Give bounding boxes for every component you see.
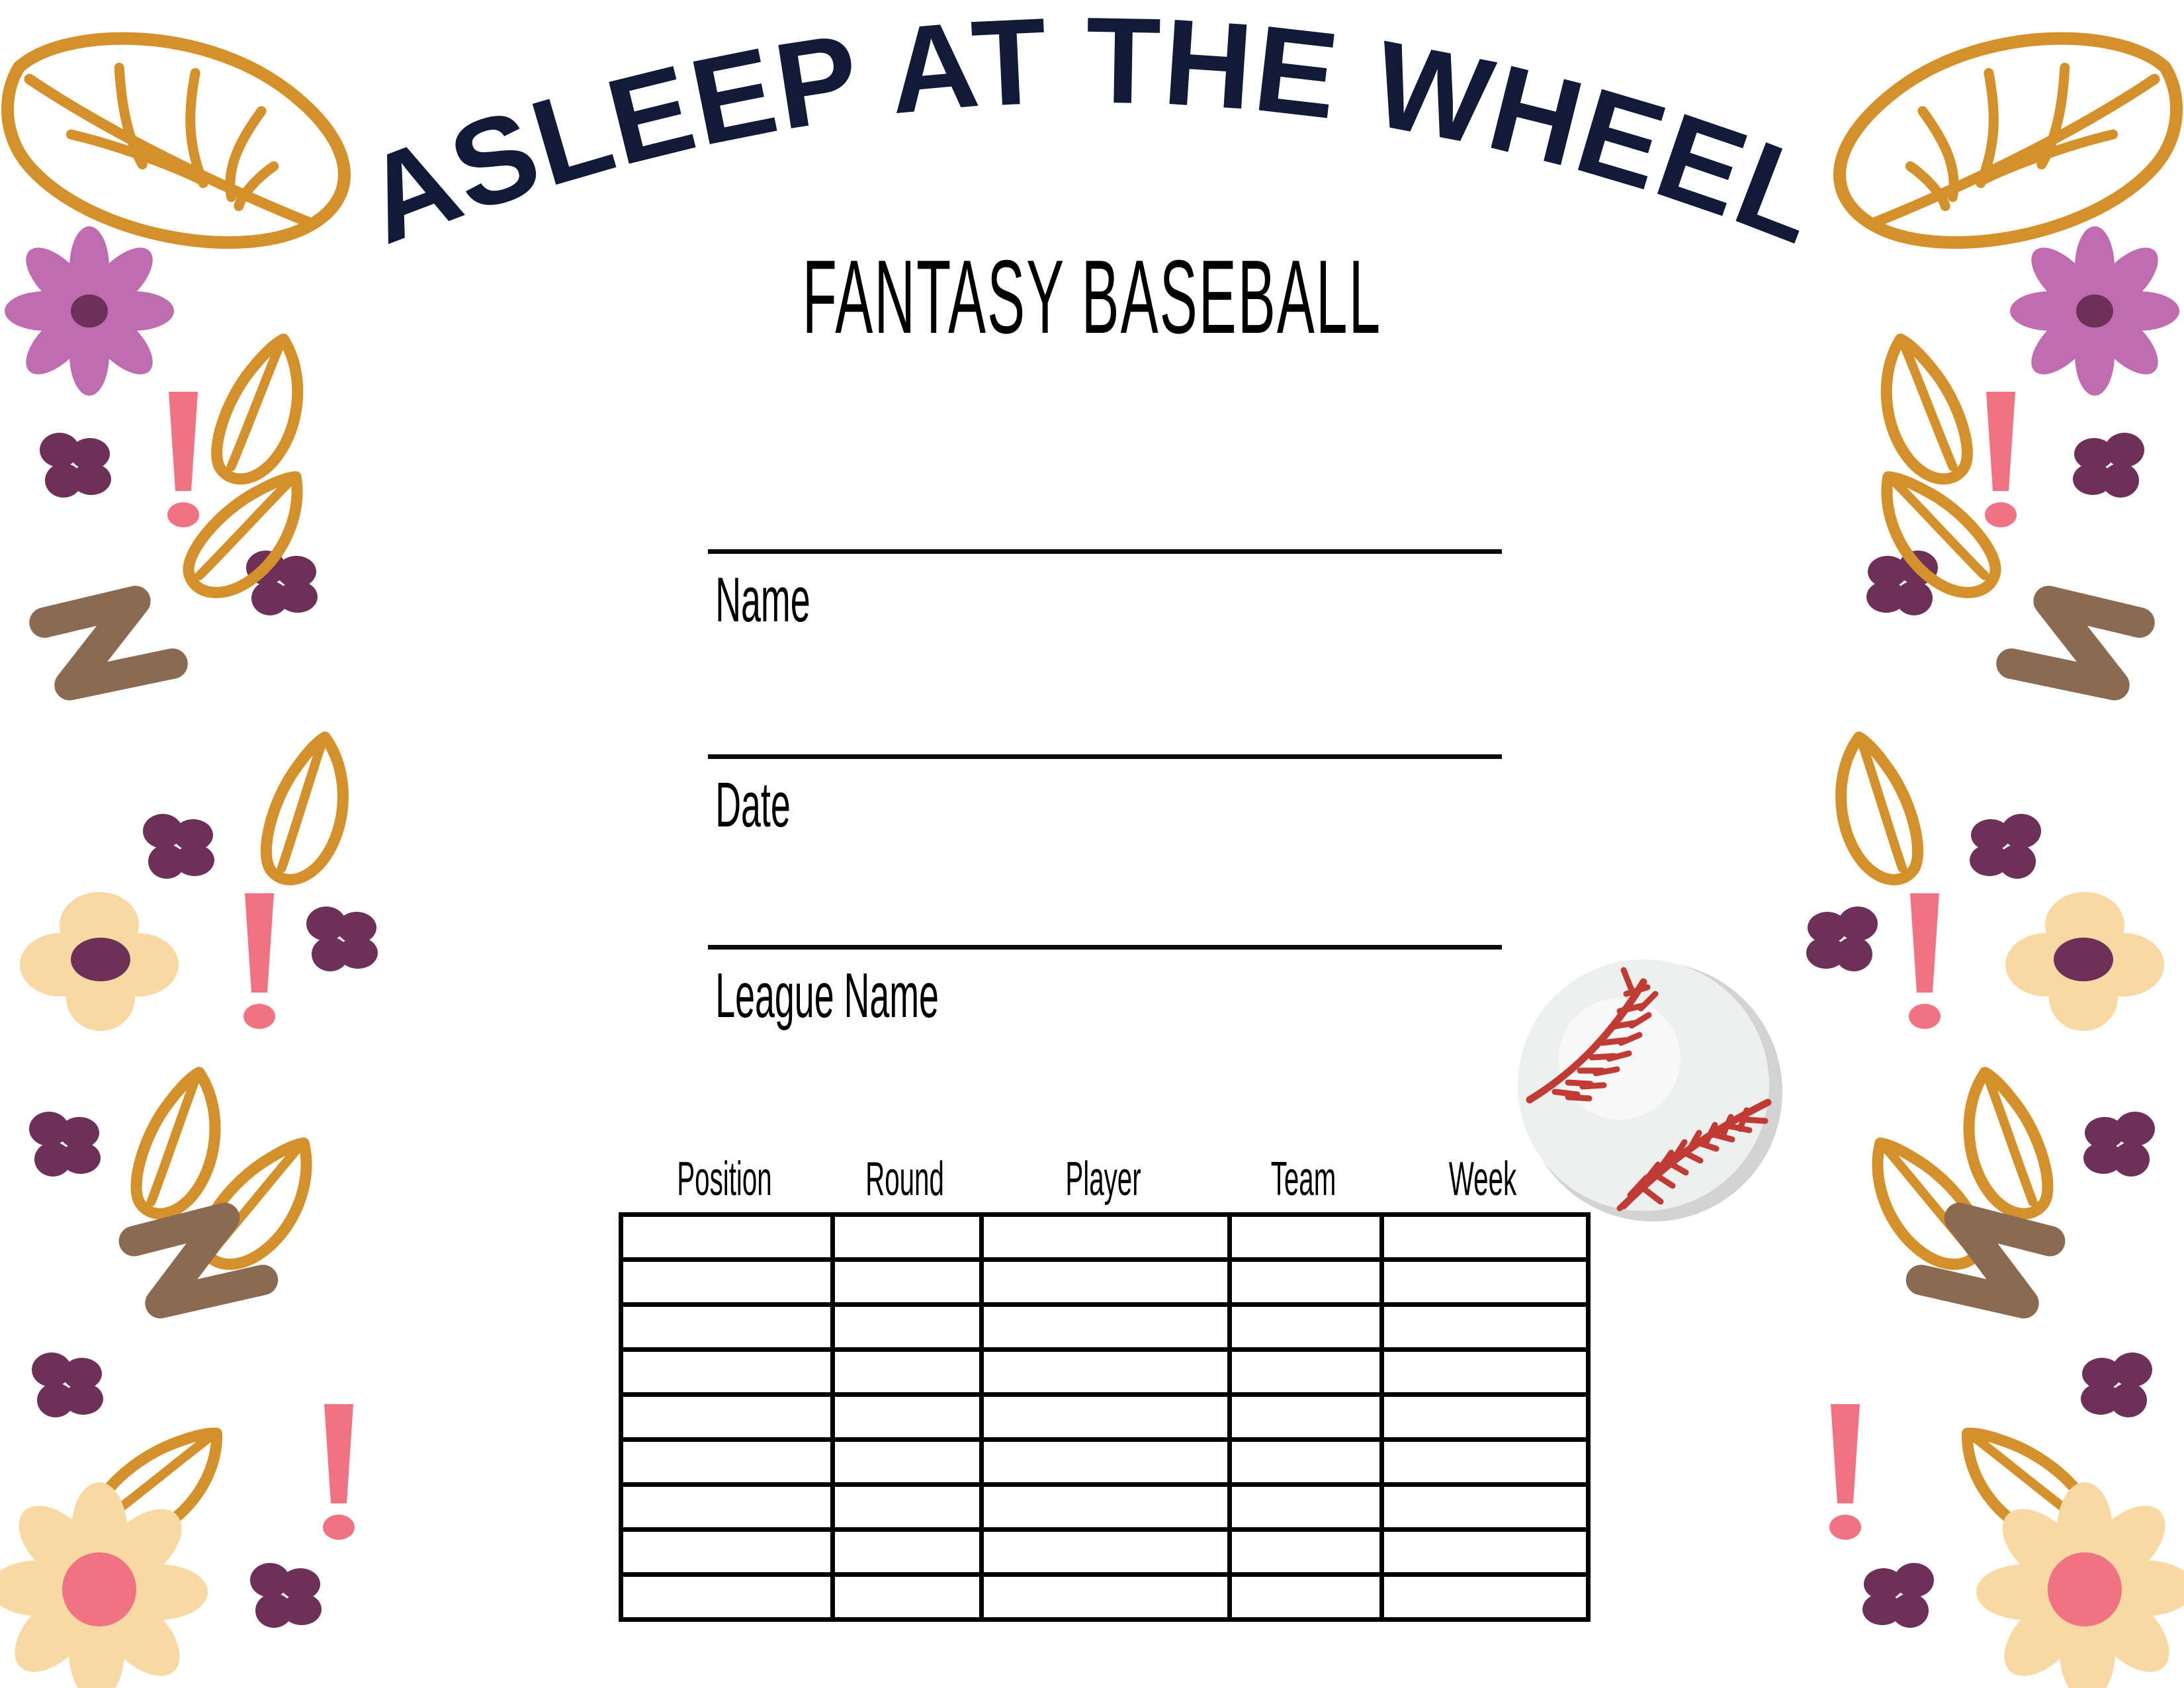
exclamation-mark-icon (167, 392, 199, 527)
date-field-group[interactable]: Date (708, 754, 1502, 840)
cell-round[interactable] (833, 1305, 982, 1350)
cell-week[interactable] (1382, 1305, 1589, 1350)
cell-week[interactable] (1382, 1485, 1589, 1530)
cell-player[interactable] (982, 1575, 1230, 1620)
clover-icon (246, 551, 318, 615)
cell-round[interactable] (833, 1440, 982, 1485)
page-title-text: ASLEEP AT THE WHEEL (346, 0, 1838, 270)
table-row (621, 1215, 1589, 1260)
column-header-round: Round (863, 1155, 947, 1203)
cell-team[interactable] (1230, 1440, 1382, 1485)
svg-text:ASLEEP AT THE WHEEL: ASLEEP AT THE WHEEL (346, 0, 1838, 270)
cell-round[interactable] (833, 1485, 982, 1530)
clover-icon (2073, 433, 2144, 498)
clover-icon (29, 1112, 101, 1177)
cell-round[interactable] (833, 1575, 982, 1620)
daisy-flower-icon (5, 226, 174, 396)
cell-round[interactable] (833, 1395, 982, 1440)
name-field-group[interactable]: Name (708, 549, 1502, 635)
cell-team[interactable] (1230, 1530, 1382, 1575)
cell-week[interactable] (1382, 1260, 1589, 1305)
leaf-outline-icon (1946, 1406, 2097, 1560)
clover-icon (2083, 1112, 2155, 1177)
name-field-rule[interactable] (708, 549, 1502, 554)
cell-position[interactable] (621, 1305, 833, 1350)
cell-player[interactable] (982, 1305, 1230, 1350)
cell-week[interactable] (1382, 1530, 1589, 1575)
cell-position[interactable] (621, 1350, 833, 1395)
column-header-week: Week (1425, 1155, 1541, 1203)
leaf-outline-icon (261, 731, 354, 887)
exclamation-mark-icon (1829, 1404, 1861, 1540)
cell-team[interactable] (1230, 1305, 1382, 1350)
exclamation-mark-icon (323, 1404, 355, 1540)
cell-team[interactable] (1230, 1260, 1382, 1305)
leaf-outline-icon (1864, 454, 2006, 613)
cell-team[interactable] (1230, 1350, 1382, 1395)
printable-sheet-page: ASLEEP AT THE WHEEL FANTASY BASEBALL Nam… (0, 0, 2184, 1688)
sleep-z-icon (1920, 1214, 2052, 1306)
column-header-player: Player (1034, 1155, 1173, 1203)
leaf-outline-icon (1872, 330, 1974, 489)
clover-icon (1862, 1563, 1934, 1628)
clover-icon (1806, 907, 1878, 971)
cell-round[interactable] (833, 1260, 982, 1305)
cell-player[interactable] (982, 1260, 1230, 1305)
cell-player[interactable] (982, 1350, 1230, 1395)
cell-position[interactable] (621, 1485, 833, 1530)
cell-position[interactable] (621, 1260, 833, 1305)
leaf-outline-icon (1855, 1122, 1991, 1284)
date-field-label: Date (708, 759, 1153, 840)
page-title: ASLEEP AT THE WHEEL (265, 7, 1919, 271)
leaf-outline-icon (86, 1406, 238, 1560)
cell-week[interactable] (1382, 1440, 1589, 1485)
column-header-position: Position (665, 1155, 783, 1203)
clover-icon (250, 1563, 322, 1628)
leaf-outline-icon (210, 330, 312, 489)
daisy-flower-icon (2010, 226, 2179, 396)
roster-grid-body (621, 1215, 1589, 1620)
table-row (621, 1530, 1589, 1575)
cell-round[interactable] (833, 1350, 982, 1395)
exclamation-mark-icon (1985, 392, 2017, 527)
table-row (621, 1395, 1589, 1440)
cell-team[interactable] (1230, 1575, 1382, 1620)
flower-icon (2005, 892, 2164, 1031)
daisy-flower-icon (0, 1482, 208, 1688)
clover-icon (40, 433, 111, 498)
cell-team[interactable] (1230, 1485, 1382, 1530)
cell-round[interactable] (833, 1530, 982, 1575)
daisy-flower-icon (1976, 1482, 2184, 1688)
table-row (621, 1350, 1589, 1395)
clover-icon (32, 1353, 103, 1417)
flower-icon (20, 892, 179, 1031)
roster-grid (619, 1212, 1591, 1622)
leaf-outline-icon (130, 1064, 228, 1222)
clover-icon (1866, 551, 1938, 615)
cell-position[interactable] (621, 1215, 833, 1260)
page-subtitle: FANTASY BASEBALL (502, 245, 1682, 349)
cell-player[interactable] (982, 1395, 1230, 1440)
leaf-outline-icon (193, 1122, 329, 1284)
exclamation-mark-icon (243, 893, 275, 1029)
exclamation-mark-icon (1909, 893, 1941, 1029)
league-name-field-label: League Name (708, 950, 1153, 1030)
cell-position[interactable] (621, 1440, 833, 1485)
cell-player[interactable] (982, 1215, 1230, 1260)
leaf-outline-icon (1956, 1064, 2054, 1222)
table-row (621, 1575, 1589, 1620)
table-row (621, 1305, 1589, 1350)
cell-week[interactable] (1382, 1575, 1589, 1620)
sleep-z-icon (132, 1214, 264, 1306)
cell-week[interactable] (1382, 1215, 1589, 1260)
cell-week[interactable] (1382, 1350, 1589, 1395)
clover-icon (306, 907, 378, 971)
cell-position[interactable] (621, 1395, 833, 1440)
table-row (621, 1260, 1589, 1305)
sleep-z-icon (2011, 598, 2141, 687)
date-field-rule[interactable] (708, 754, 1502, 759)
cell-team[interactable] (1230, 1215, 1382, 1260)
cell-round[interactable] (833, 1215, 982, 1260)
table-header-row: Position Round Player Team Week (619, 1151, 1586, 1203)
roster-table: Position Round Player Team Week (619, 1151, 1586, 1622)
league-name-field-rule[interactable] (708, 945, 1502, 950)
table-row (621, 1440, 1589, 1485)
column-header-team: Team (1261, 1155, 1346, 1203)
sleep-z-icon (43, 598, 173, 687)
table-row (621, 1485, 1589, 1530)
cell-player[interactable] (982, 1440, 1230, 1485)
cell-position[interactable] (621, 1575, 833, 1620)
cell-player[interactable] (982, 1530, 1230, 1575)
name-field-label: Name (708, 554, 1153, 635)
clover-icon (2081, 1353, 2152, 1417)
leaf-outline-icon (177, 454, 320, 613)
clover-icon (1970, 814, 2041, 879)
league-name-field-group[interactable]: League Name (708, 945, 1502, 1030)
leaf-outline-icon (1829, 731, 1923, 887)
cell-week[interactable] (1382, 1395, 1589, 1440)
cell-team[interactable] (1230, 1395, 1382, 1440)
cell-player[interactable] (982, 1485, 1230, 1530)
clover-icon (143, 814, 214, 879)
cell-position[interactable] (621, 1530, 833, 1575)
